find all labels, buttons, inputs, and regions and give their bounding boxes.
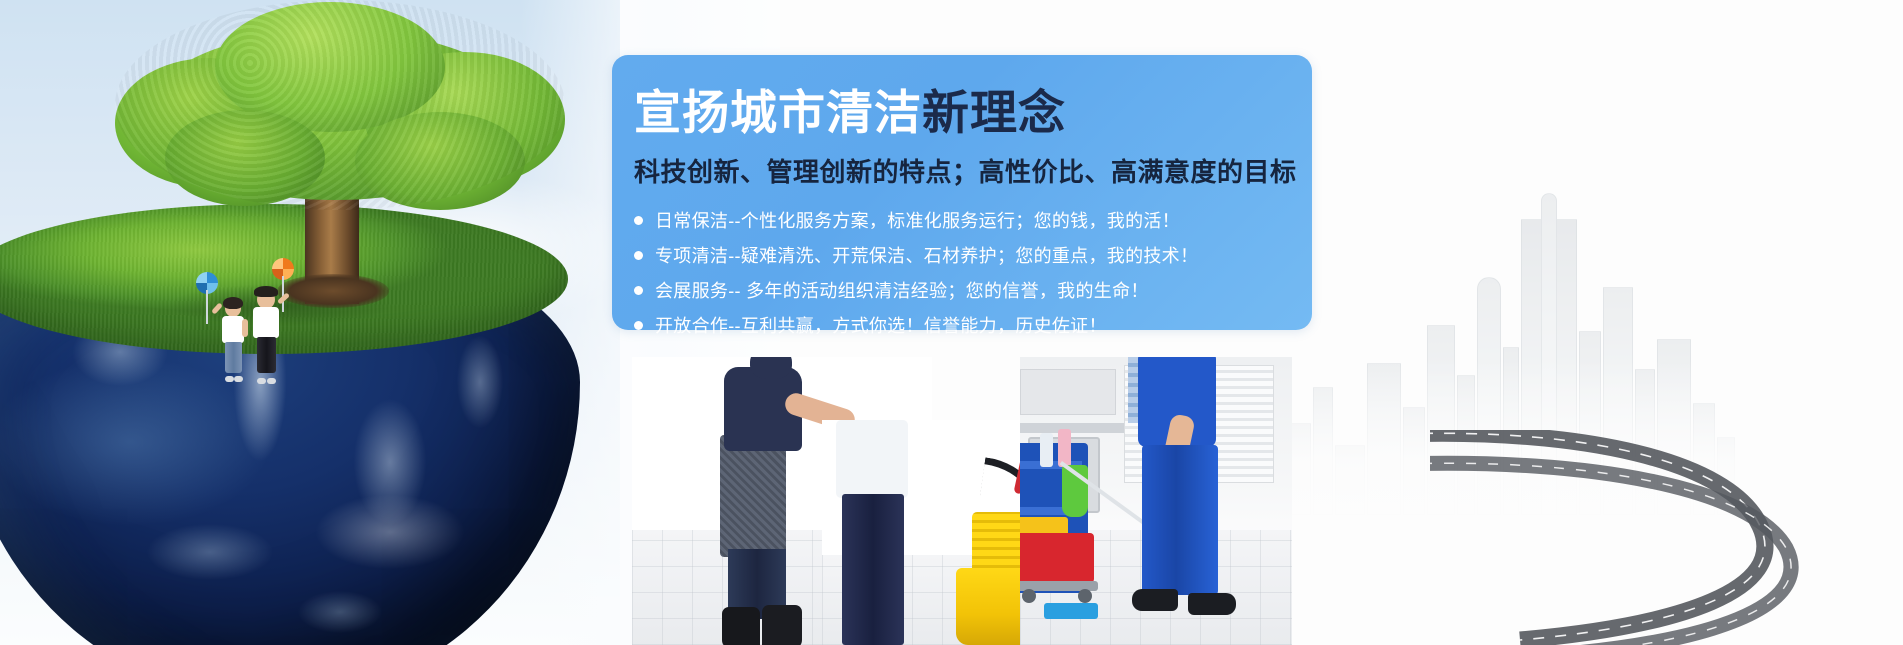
bullet-dot-icon <box>634 251 643 260</box>
bullet-text: 日常保洁--个性化服务方案，标准化服务运行；您的钱，我的活！ <box>655 207 1180 233</box>
tree-illustration <box>105 0 565 350</box>
list-item: 开放合作--互利共赢，方式你选！信誉能力，历史佐证！ <box>634 312 1312 338</box>
headline-highlight: 宣扬城市清洁 <box>634 86 922 139</box>
bullet-dot-icon <box>634 216 643 225</box>
message-card: 宣扬城市清洁新理念 科技创新、管理创新的特点；高性价比、高满意度的目标 日常保洁… <box>612 55 1312 330</box>
bullet-text: 开放合作--互利共赢，方式你选！信誉能力，历史佐证！ <box>655 312 1107 338</box>
bullet-text: 会展服务-- 多年的活动组织清洁经验；您的信誉，我的生命！ <box>655 277 1149 303</box>
curving-road-illustration <box>1430 430 1900 645</box>
photo-strip <box>632 357 1292 645</box>
headline-accent: 新理念 <box>922 86 1066 139</box>
promotional-banner: 宣扬城市清洁新理念 科技创新、管理创新的特点；高性价比、高满意度的目标 日常保洁… <box>0 0 1903 645</box>
list-item: 日常保洁--个性化服务方案，标准化服务运行；您的钱，我的活！ <box>634 207 1312 233</box>
bullet-dot-icon <box>634 286 643 295</box>
child-girl-figure <box>218 300 248 378</box>
banner-subtitle: 科技创新、管理创新的特点；高性价比、高满意度的目标 <box>634 152 1312 189</box>
banner-headline: 宣扬城市清洁新理念 <box>634 89 1312 136</box>
service-bullet-list: 日常保洁--个性化服务方案，标准化服务运行；您的钱，我的活！ 专项清洁--疑难清… <box>634 207 1312 338</box>
list-item: 专项清洁--疑难清洗、开荒保洁、石材养护；您的重点，我的技术！ <box>634 242 1312 268</box>
photo-worker-mopping-kitchen <box>1020 357 1292 645</box>
tree-canopy <box>105 0 565 210</box>
list-item: 会展服务-- 多年的活动组织清洁经验；您的信誉，我的生命！ <box>634 277 1312 303</box>
child-boy-figure <box>248 288 284 380</box>
bullet-dot-icon <box>634 321 643 330</box>
bullet-text: 专项清洁--疑难清洗、开荒保洁、石材养护；您的重点，我的技术！ <box>655 242 1198 268</box>
